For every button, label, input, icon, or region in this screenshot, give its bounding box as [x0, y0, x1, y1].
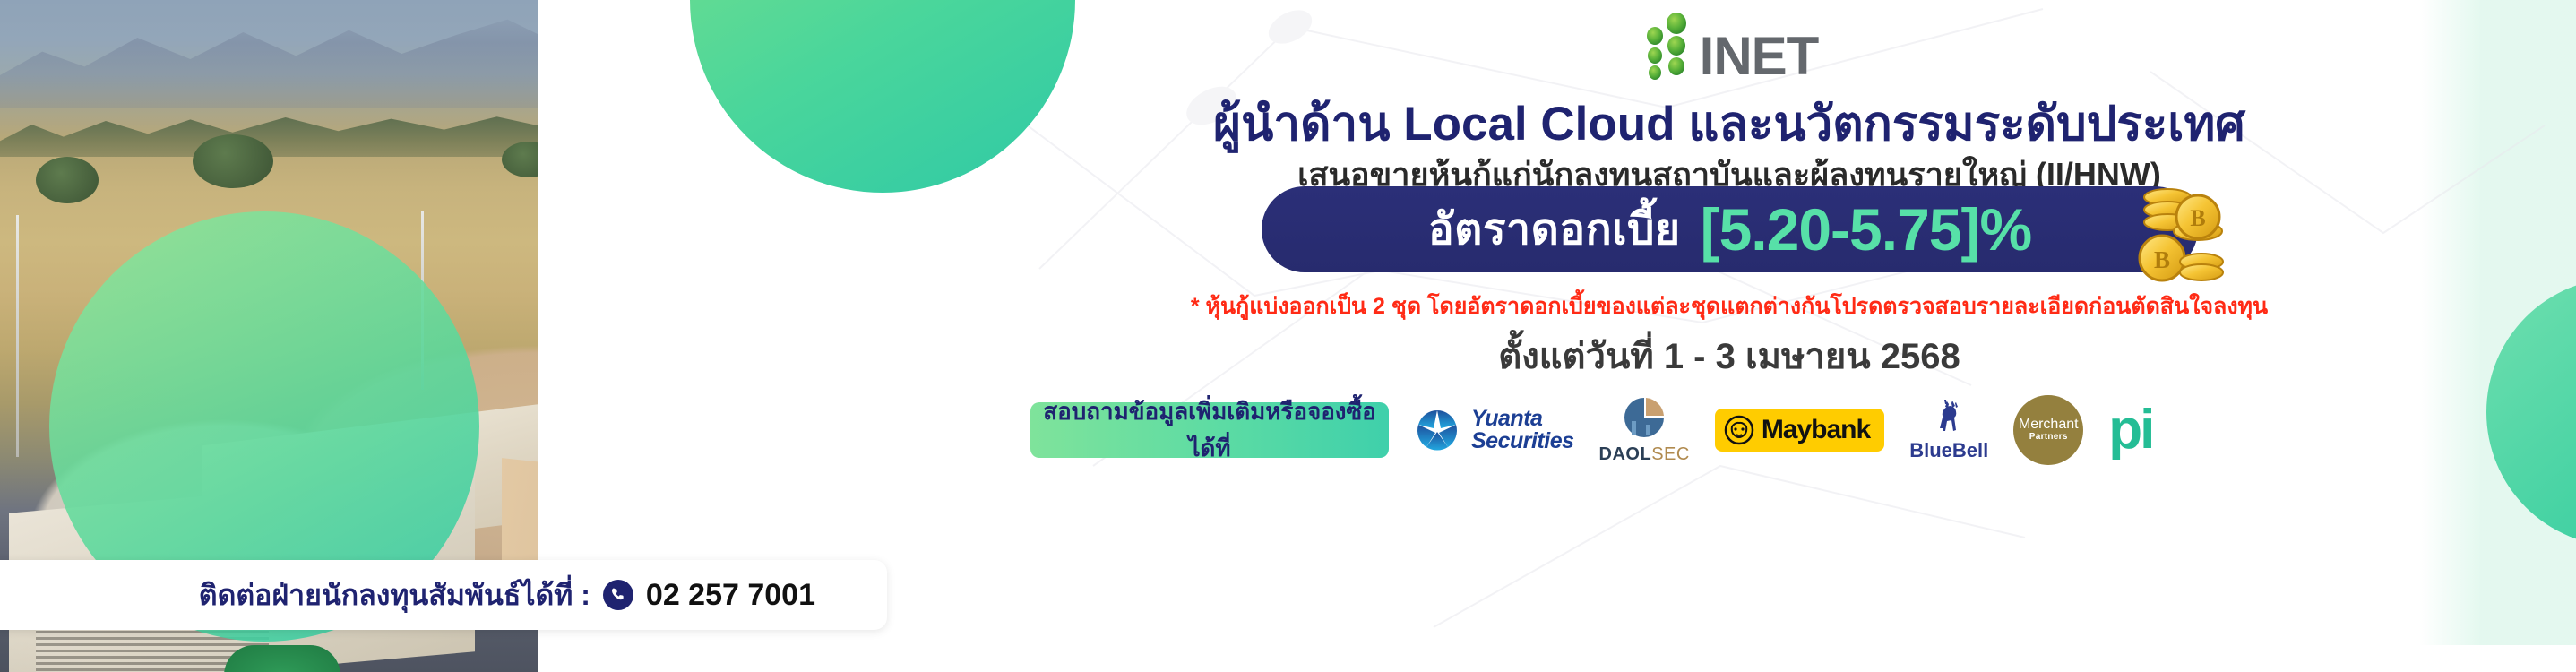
inet-dots-icon	[1641, 13, 1694, 81]
bluebell-wordmark: BlueBell	[1909, 439, 1988, 462]
daol-pie-icon	[1618, 394, 1670, 441]
inet-wordmark: INET	[1700, 31, 1819, 81]
promo-content: INET ผู้นำด้าน Local Cloud และนวัตกรรมระ…	[1030, 0, 2576, 672]
promo-banner: INET ผู้นำด้าน Local Cloud และนวัตกรรมระ…	[0, 0, 2576, 672]
merchant-line1: Merchant	[2019, 418, 2079, 433]
broker-logo-yuanta-securities[interactable]: Yuanta Securities	[1414, 407, 1574, 453]
broker-row: สอบถามข้อมูลเพิ่มเติมหรือจองซื้อได้ที่	[1030, 394, 2554, 465]
broker-logo-bluebell[interactable]: BlueBell	[1909, 398, 1988, 462]
broker-logo-merchant-partners[interactable]: Merchant Partners	[2013, 395, 2083, 465]
daol-word-sec: SEC	[1651, 444, 1690, 464]
maybank-wordmark: Maybank	[1762, 415, 1870, 445]
yuanta-star-icon	[1414, 407, 1460, 453]
contact-label: ติดต่อฝ่ายนักลงทุนสัมพันธ์ได้ที่ :	[199, 573, 590, 618]
phone-icon	[603, 580, 633, 610]
bluebell-deer-icon	[1929, 398, 1969, 437]
footnote-text: * หุ้นกู้แบ่งออกเป็น 2 ชุด โดยอัตราดอกเบ…	[1030, 289, 2428, 324]
investor-relations-contact: ติดต่อฝ่ายนักลงทุนสัมพันธ์ได้ที่ : 02 25…	[0, 560, 887, 630]
broker-logo-maybank[interactable]: Maybank	[1715, 409, 1884, 452]
daol-word-main: DAOL	[1599, 444, 1652, 464]
interest-rate-label: อัตราดอกเบี้ย	[1428, 195, 1681, 263]
broker-logo-daol-sec[interactable]: DAOLSEC	[1599, 394, 1690, 465]
gold-coins-icon: B B	[2115, 165, 2232, 290]
yuanta-line1: Yuanta	[1471, 408, 1574, 430]
daol-wordmark: DAOLSEC	[1599, 444, 1690, 465]
contact-phone-number: 02 257 7001	[646, 578, 815, 613]
pi-wordmark: pi	[2108, 408, 2152, 452]
interest-rate-badge: อัตราดอกเบี้ย [5.20-5.75]% B	[1262, 186, 2198, 272]
broker-logo-pi-securities[interactable]: pi	[2108, 408, 2152, 452]
logo-row: INET	[1030, 13, 2428, 81]
maybank-tiger-icon	[1724, 415, 1754, 445]
offer-date-range: ตั้งแต่วันที่ 1 - 3 เมษายน 2568	[1030, 327, 2428, 384]
svg-text:B: B	[2154, 246, 2170, 273]
svg-text:B: B	[2190, 205, 2205, 231]
inet-logo: INET	[1641, 13, 1819, 81]
merchant-line2: Partners	[2029, 433, 2068, 443]
yuanta-line2: Securities	[1471, 430, 1574, 452]
interest-rate-value: [5.20-5.75]%	[1701, 195, 2032, 263]
inquiry-cta-button[interactable]: สอบถามข้อมูลเพิ่มเติมหรือจองซื้อได้ที่	[1030, 402, 1389, 458]
